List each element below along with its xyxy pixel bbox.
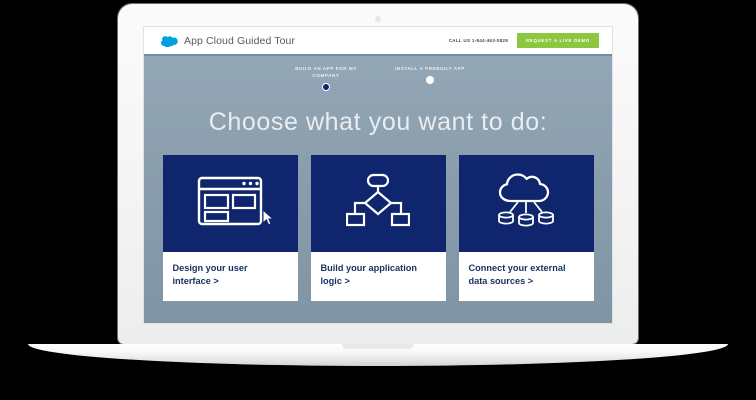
mouse-cursor-icon	[262, 209, 275, 231]
call-us-text: CALL US 1-844-463-0828	[449, 38, 508, 43]
steps-nav: BUILD AN APP FOR MY COMPANY INSTALL A PR…	[144, 56, 612, 91]
step-install-prebuilt-app[interactable]: INSTALL A PREBUILT APP	[394, 65, 466, 91]
step-label: INSTALL A PREBUILT APP	[395, 65, 465, 72]
brand-title: App Cloud Guided Tour	[184, 35, 295, 47]
step-dot-active[interactable]	[322, 83, 330, 91]
laptop-base-notch	[342, 344, 414, 349]
card-connect-data-sources[interactable]: Connect your external data sources >	[459, 155, 594, 300]
request-demo-button[interactable]: REQUEST A LIVE DEMO	[517, 33, 599, 48]
browser-screen: App Cloud Guided Tour CALL US 1-844-463-…	[144, 27, 612, 323]
flowchart-logic-icon	[346, 173, 410, 234]
step-label: BUILD AN APP FOR MY COMPANY	[290, 65, 362, 79]
cloud-database-icon	[493, 171, 559, 236]
card-body: Design your user interface >	[163, 252, 298, 300]
step-dot[interactable]	[426, 76, 434, 84]
header-actions: CALL US 1-844-463-0828 REQUEST A LIVE DE…	[449, 33, 599, 48]
card-media	[459, 155, 594, 252]
card-build-application-logic[interactable]: Build your application logic >	[311, 155, 446, 300]
card-media	[311, 155, 446, 252]
page-title: Choose what you want to do:	[144, 108, 612, 137]
card-title: Connect your external data sources >	[469, 262, 584, 287]
step-build-an-app[interactable]: BUILD AN APP FOR MY COMPANY	[290, 65, 362, 91]
card-list: Design your user interface >	[144, 155, 612, 300]
card-title: Build your application logic >	[321, 262, 436, 287]
card-title: Design your user interface >	[173, 262, 288, 287]
brand[interactable]: App Cloud Guided Tour	[161, 35, 295, 47]
salesforce-cloud-logo-icon	[161, 35, 178, 47]
card-body: Build your application logic >	[311, 252, 446, 300]
card-body: Connect your external data sources >	[459, 252, 594, 300]
hero-section: BUILD AN APP FOR MY COMPANY INSTALL A PR…	[144, 54, 612, 323]
card-design-user-interface[interactable]: Design your user interface >	[163, 155, 298, 300]
card-media	[163, 155, 298, 252]
laptop-frame: App Cloud Guided Tour CALL US 1-844-463-…	[118, 4, 638, 344]
webcam-icon	[375, 16, 381, 22]
browser-layout-icon	[197, 176, 263, 231]
site-header: App Cloud Guided Tour CALL US 1-844-463-…	[144, 27, 612, 54]
